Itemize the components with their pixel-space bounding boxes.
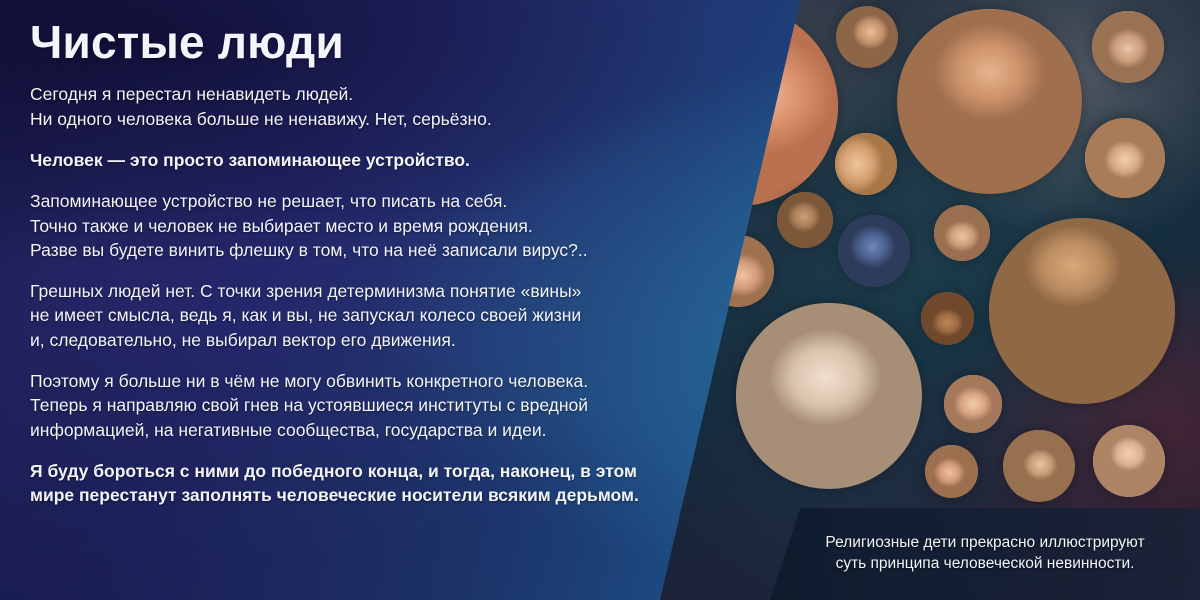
photo-praying-boy-suit [836,6,898,68]
caption-plate: Религиозные дети прекрасно иллюстрируют … [770,508,1200,600]
text-panel: Чистые люди Сегодня я перестал ненавидет… [0,0,770,600]
photo-sikh-boy-orange-turban [921,292,974,345]
photo-child-praying-hands [835,133,897,195]
paragraph-line: Грешных людей нет. С точки зрения детерм… [30,279,746,303]
photo-white-hijab-girl-praying [1093,425,1165,497]
paragraph-line: информацией, на негативные сообщества, г… [30,418,746,442]
photo-hijab-girl-with-quran [1085,118,1165,198]
paragraph-line: не имеет смысла, ведь я, как и вы, не за… [30,303,746,327]
photo-muslim-boy-taqiyah [897,9,1082,194]
paragraph-line: и, следовательно, не выбирал вектор его … [30,328,746,352]
photo-baby-touching-head [944,375,1002,433]
paragraph-thesis: Человек — это просто запоминающее устрой… [30,148,746,172]
photo-green-headband-child [934,205,990,261]
paragraph-line: Я буду бороться с ними до победного конц… [30,459,746,483]
paragraph-conclusion: Я буду бороться с ними до победного конц… [30,459,746,508]
photo-krishna-painted-child [838,215,910,287]
photo-hasidic-boy-hat [1003,430,1075,502]
paragraph-line: Сегодня я перестал ненавидеть людей. [30,82,746,106]
paragraph-determinism: Грешных людей нет. С точки зрения детерм… [30,279,746,352]
caption-line: суть принципа человеческой невинности. [825,554,1144,575]
paragraph-line: Теперь я направляю свой гнев на устоявши… [30,393,746,417]
caption-text: Религиозные дети прекрасно иллюстрируют … [811,533,1158,574]
paragraph-line: Ни одного человека больше не ненавижу. Н… [30,107,746,131]
paragraph-blame-shift: Поэтому я больше ни в чём не могу обвини… [30,369,746,442]
photo-buddhist-novice-monk [989,218,1175,404]
photo-top-right-child [1092,11,1164,83]
paragraph-line: Запоминающее устройство не решает, что п… [30,189,746,213]
paragraph-line: Разве вы будете винить флешку в том, что… [30,238,746,262]
page-title: Чистые люди [30,18,770,66]
paragraph-line: мире перестанут заполнять человеческие н… [30,483,746,507]
paragraph-storage-analogy: Запоминающее устройство не решает, что п… [30,189,746,262]
paragraph-intro: Сегодня я перестал ненавидеть людей. Ни … [30,82,746,131]
paragraph-line: Человек — это просто запоминающее устрой… [30,148,746,172]
paragraph-line: Точно также и человек не выбирает место … [30,214,746,238]
paragraph-line: Поэтому я больше ни в чём не могу обвини… [30,369,746,393]
photo-indian-girl-praying [777,192,833,248]
caption-line: Религиозные дети прекрасно иллюстрируют [825,533,1144,554]
photo-scarf-girl-singing [925,445,978,498]
poster: Чистые люди Сегодня я перестал ненавидет… [0,0,1200,600]
